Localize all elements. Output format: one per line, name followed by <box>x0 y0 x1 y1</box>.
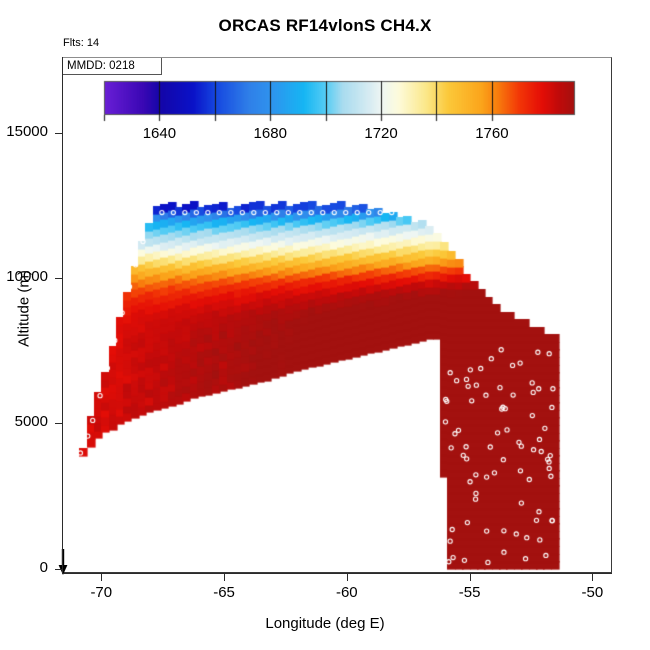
x-axis-tick-label: -65 <box>194 584 254 601</box>
y-axis-tick <box>55 423 62 424</box>
x-axis-tick <box>592 574 593 581</box>
figure-root: ORCAS RF14vlonS CH4.X Flts: 14 MMDD: 021… <box>0 0 650 650</box>
y-axis-tick-label: 0 <box>0 559 48 576</box>
y-axis-tick <box>55 278 62 279</box>
colorbar-tick-label: 1640 <box>124 125 194 142</box>
colorbar-tick-label: 1720 <box>346 125 416 142</box>
x-axis-title: Longitude (deg E) <box>0 615 650 632</box>
y-axis-tick <box>55 569 62 570</box>
colorbar-tick-label: 1680 <box>235 125 305 142</box>
x-axis-tick <box>470 574 471 581</box>
x-axis-tick <box>224 574 225 581</box>
takeoff-arrow-icon <box>57 549 69 575</box>
y-axis-tick-label: 15000 <box>0 123 48 140</box>
curtain-plot-canvas <box>0 0 650 650</box>
x-axis-tick <box>101 574 102 581</box>
date-badge: MMDD: 0218 <box>62 57 162 75</box>
y-axis-title: Altitude (m) <box>16 189 33 429</box>
y-axis-tick <box>55 133 62 134</box>
x-axis-tick-label: -55 <box>440 584 500 601</box>
colorbar-tick-label: 1760 <box>457 125 527 142</box>
x-axis-tick-label: -50 <box>562 584 622 601</box>
y-axis-line <box>62 57 63 573</box>
x-axis-tick-label: -70 <box>71 584 131 601</box>
x-axis-tick <box>347 574 348 581</box>
x-axis-tick-label: -60 <box>317 584 377 601</box>
x-axis-line <box>62 573 612 574</box>
